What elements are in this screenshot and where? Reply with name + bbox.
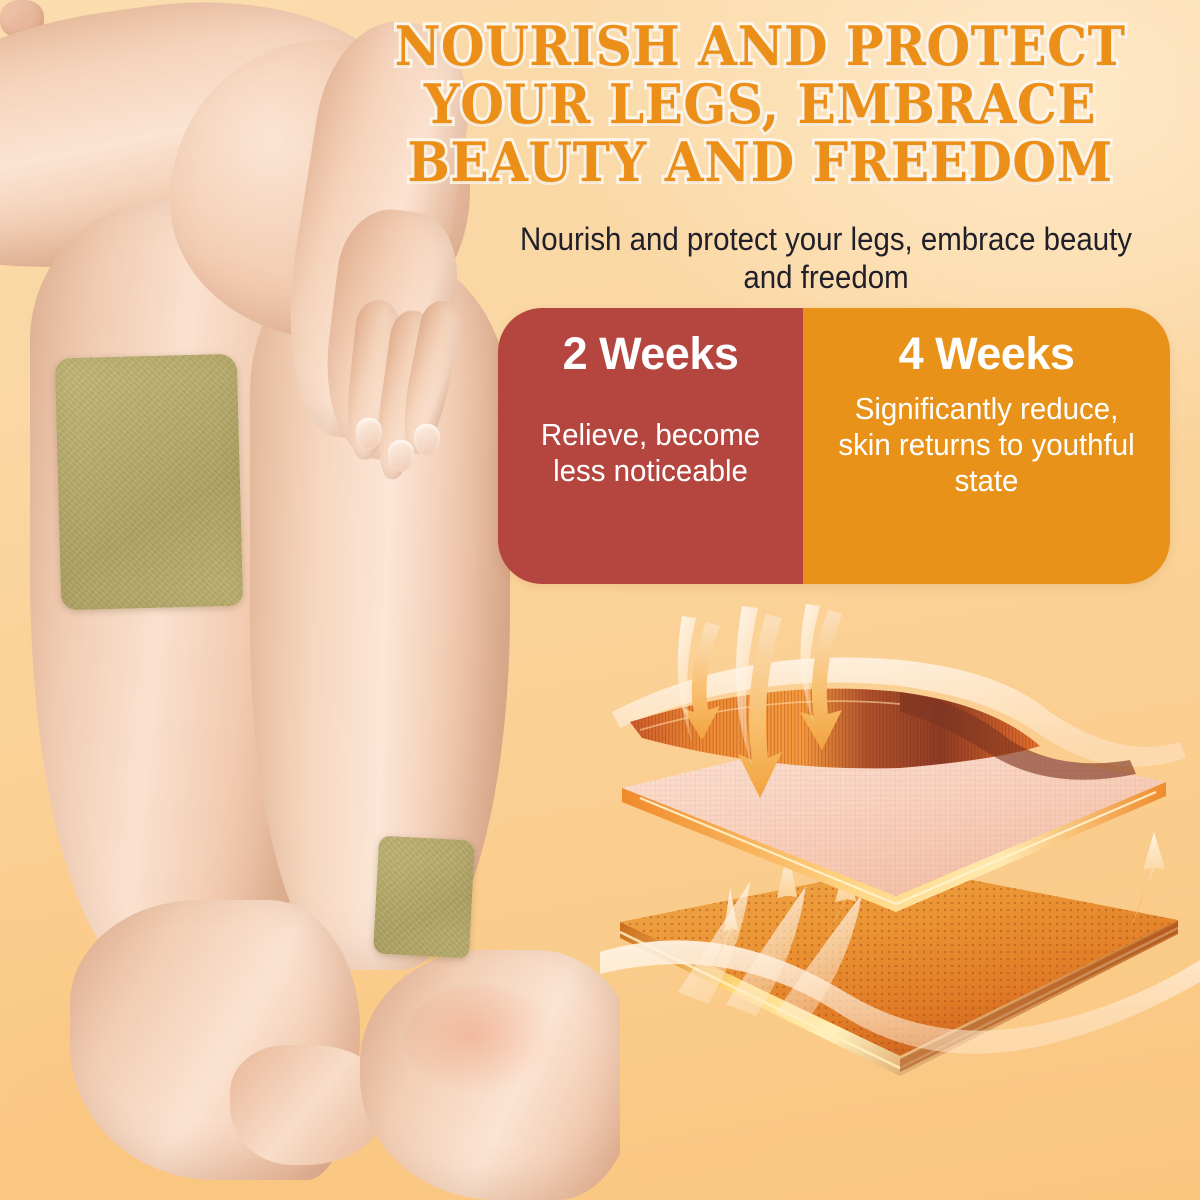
comparison-panel-2-weeks: 2 Weeks Relieve, become less noticeable [498,308,803,584]
ankle-patch [373,836,475,959]
calf-patch [55,354,244,611]
panel-title-4-weeks: 4 Weeks [899,330,1075,377]
panel-body-4-weeks: Significantly reduce, skin returns to yo… [827,391,1145,499]
panel-body-2-weeks: Relieve, become less noticeable [521,417,780,489]
subtitle: Nourish and protect your legs, embrace b… [498,220,1153,297]
timeline-comparison-box: 2 Weeks Relieve, become less noticeable … [498,308,1170,584]
panel-title-2-weeks: 2 Weeks [563,330,739,377]
advertisement-root: NOURISH AND PROTECT YOUR LEGS, EMBRACE B… [0,0,1200,1200]
comparison-panel-4-weeks: 4 Weeks Significantly reduce, skin retur… [803,308,1170,584]
heel-highlight [405,985,555,1095]
patch-layer-diagram [600,600,1200,1100]
page-title: NOURISH AND PROTECT YOUR LEGS, EMBRACE B… [360,18,1160,191]
